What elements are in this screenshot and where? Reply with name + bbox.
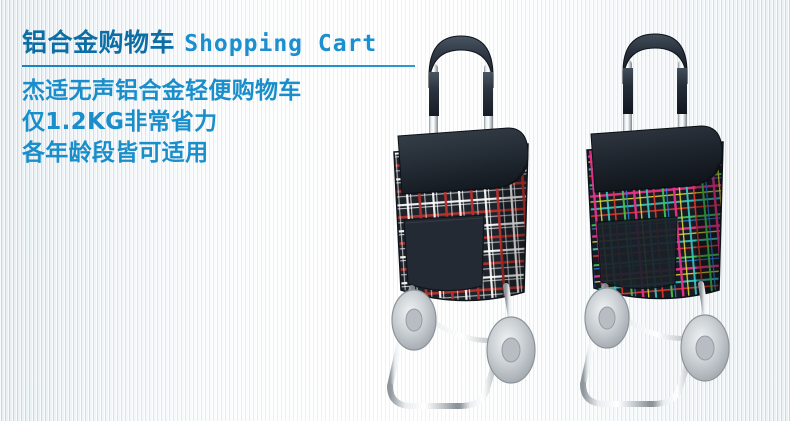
title-divider [22,65,415,67]
page-title-chinese: 铝合金购物车 [22,28,175,57]
product-image-plaid-cart [368,24,558,416]
page-title-english: Shopping Cart [184,31,377,57]
product-banner: 铝合金购物车 Shopping Cart 杰适无声铝合金轻便购物车 仅1.2KG… [0,0,790,421]
product-image-rainbow-cart [565,24,755,416]
